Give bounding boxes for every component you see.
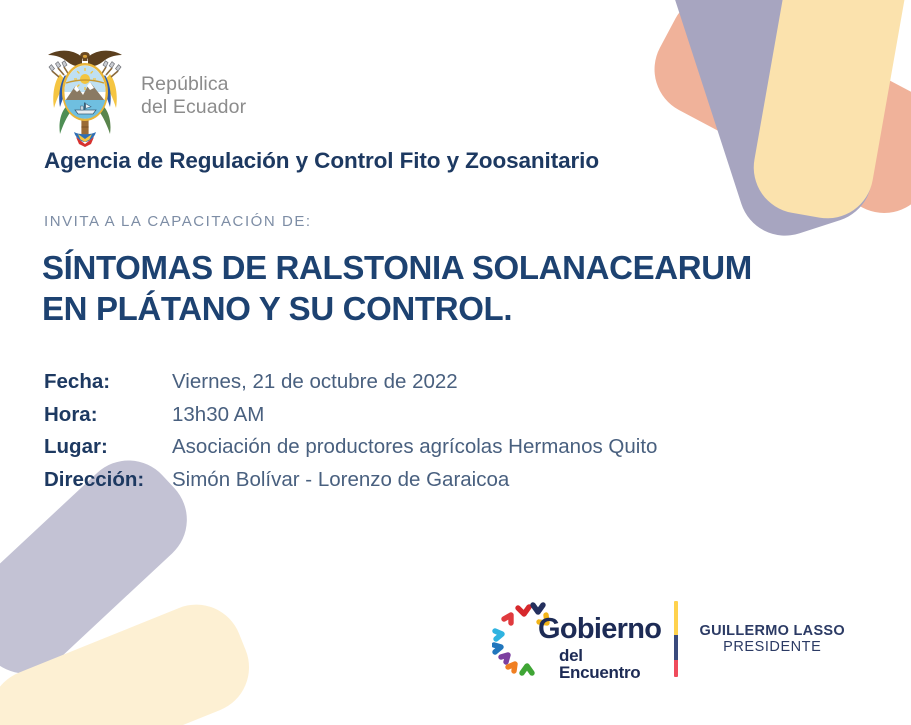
detail-label-fecha: Fecha: (44, 370, 172, 394)
flag-stripe-blue (674, 635, 678, 659)
detail-row-lugar: Lugar: Asociación de productores agrícol… (44, 435, 657, 459)
republic-label: República del Ecuador (141, 73, 246, 117)
detail-label-lugar: Lugar: (44, 435, 172, 459)
ecuador-coat-of-arms-icon (38, 44, 132, 147)
president-role: PRESIDENTE (700, 639, 845, 655)
invitation-intro: INVITA A LA CAPACITACIÓN DE: (44, 213, 312, 230)
headline-line-1: SÍNTOMAS DE RALSTONIA SOLANACEARUM (42, 249, 752, 286)
agency-title: Agencia de Regulación y Control Fito y Z… (44, 148, 599, 174)
detail-value-direccion: Simón Bolívar - Lorenzo de Garaicoa (172, 468, 509, 492)
republic-brand: República del Ecuador (38, 44, 246, 147)
blob-top-right-yellow (746, 0, 911, 226)
detail-value-fecha: Viernes, 21 de octubre de 2022 (172, 370, 458, 394)
gobierno-wordmark: Gobierno del Encuentro (538, 615, 668, 681)
detail-row-hora: Hora: 13h30 AM (44, 403, 657, 427)
detail-row-direccion: Dirección: Simón Bolívar - Lorenzo de Ga… (44, 468, 657, 492)
detail-label-hora: Hora: (44, 403, 172, 427)
gobierno-word-main: Gobierno (538, 615, 668, 644)
blob-bottom-left-peach (0, 565, 19, 725)
detail-row-fecha: Fecha: Viernes, 21 de octubre de 2022 (44, 370, 657, 394)
president-name: GUILLERMO LASSO (700, 623, 845, 639)
invitation-poster: República del Ecuador Agencia de Regulac… (0, 0, 911, 725)
headline-line-2: EN PLÁTANO Y SU CONTROL. (42, 289, 897, 330)
flag-stripe-red (674, 660, 678, 677)
blob-top-right-purple (654, 0, 884, 248)
blob-bottom-left-yellow (0, 591, 263, 725)
ecuador-flag-divider-icon (674, 601, 678, 677)
detail-value-lugar: Asociación de productores agrícolas Herm… (172, 435, 657, 459)
gobierno-word-sub: del Encuentro (559, 647, 668, 681)
gobierno-del-encuentro-logo: Gobierno del Encuentro (492, 595, 668, 683)
president-block: GUILLERMO LASSO PRESIDENTE (700, 623, 845, 655)
flag-stripe-yellow (674, 601, 678, 635)
blob-top-right-peach (638, 0, 911, 229)
detail-value-hora: 13h30 AM (172, 403, 264, 427)
detail-label-direccion: Dirección: (44, 468, 172, 492)
event-details: Fecha: Viernes, 21 de octubre de 2022 Ho… (44, 370, 657, 500)
page-title: SÍNTOMAS DE RALSTONIA SOLANACEARUM EN PL… (42, 248, 897, 330)
footer-logo-lockup: Gobierno del Encuentro GUILLERMO LASSO P… (492, 595, 845, 683)
